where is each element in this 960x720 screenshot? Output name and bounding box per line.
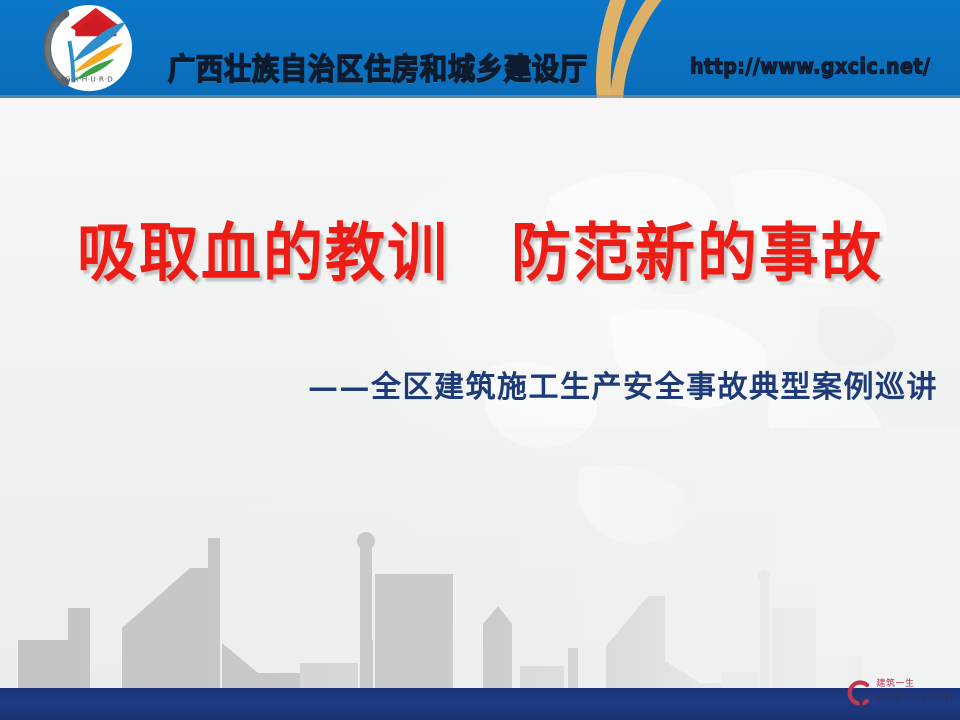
watermark-text-group: 建筑一生 coyis.com [876, 680, 954, 705]
gxhurd-logo: G·X·H·U·R·D [40, 2, 138, 96]
slide-subtitle: ——全区建筑施工生产安全事故典型案例巡讲 [0, 362, 960, 406]
presentation-slide: G·X·H·U·R·D 广西壮族自治区住房和城乡建设厅 http://www.g… [0, 0, 960, 720]
header-org-title: 广西壮族自治区住房和城乡建设厅 [168, 45, 588, 89]
footer-bar [0, 688, 960, 720]
site-watermark: 建筑一生 coyis.com [843, 672, 954, 714]
logo-text: G·X·H·U·R·D [65, 74, 113, 83]
header-banner: G·X·H·U·R·D 广西壮族自治区住房和城乡建设厅 http://www.g… [0, 0, 960, 98]
header-website-url[interactable]: http://www.gxcic.net/ [690, 55, 930, 79]
city-skyline-silhouette [0, 428, 960, 688]
watermark-domain-label: coyis.com [876, 690, 954, 706]
slide-main-title: 吸取血的教训 防范新的事故 [0, 219, 960, 290]
coyis-logo-icon [843, 677, 873, 709]
